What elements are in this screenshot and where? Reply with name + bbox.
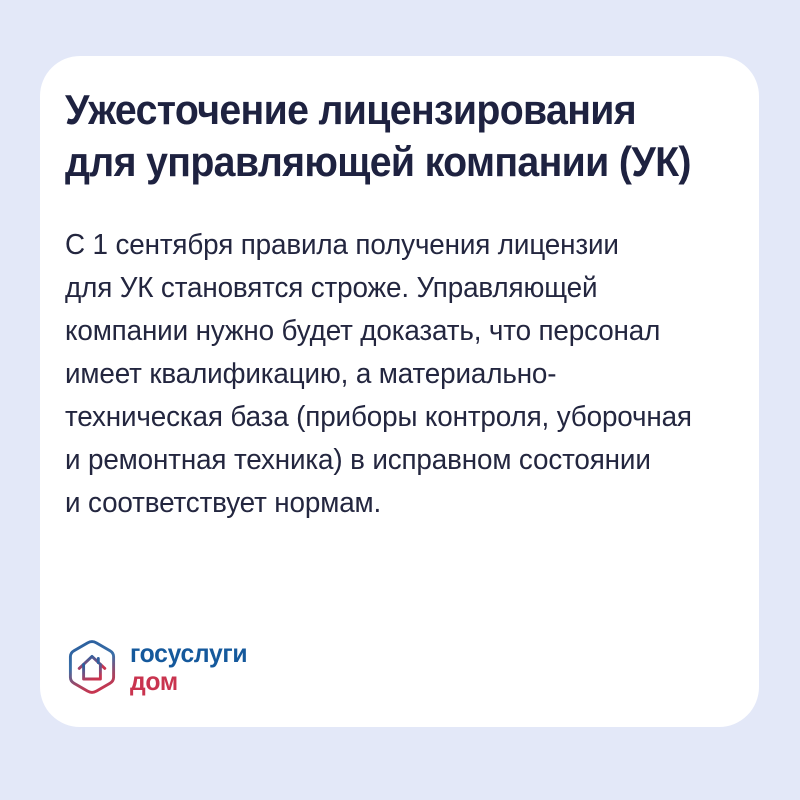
title-line-1: Ужесточение лицензирования xyxy=(65,84,691,136)
body-line-1: С 1 сентября правила получения лицензии xyxy=(65,224,718,267)
logo-word-dom: дом xyxy=(130,667,247,695)
page-canvas: Ужесточение лицензирования для управляющ… xyxy=(0,0,800,800)
title-line-2: для управляющей компании (УК) xyxy=(65,136,691,188)
hexagon-house-icon xyxy=(66,639,118,695)
page-title: Ужесточение лицензирования для управляющ… xyxy=(65,84,735,188)
logo-word-gosuslugi: госуслуги xyxy=(130,639,247,667)
body-line-7: и соответствует нормам. xyxy=(65,482,718,525)
logo-wordmark: госуслуги дом xyxy=(130,639,254,695)
body-line-6: и ремонтная техника) в исправном состоян… xyxy=(65,439,718,482)
body-line-5: техническая база (приборы контроля, убор… xyxy=(65,396,718,439)
info-card: Ужесточение лицензирования для управляющ… xyxy=(40,56,759,727)
body-text: С 1 сентября правила получения лицензии … xyxy=(65,224,745,525)
body-line-4: имеет квалификацию, а материально- xyxy=(65,353,718,396)
brand-logo: госуслуги дом xyxy=(66,639,254,695)
body-line-2: для УК становятся строже. Управляющей xyxy=(65,267,718,310)
body-line-3: компании нужно будет доказать, что персо… xyxy=(65,310,718,353)
